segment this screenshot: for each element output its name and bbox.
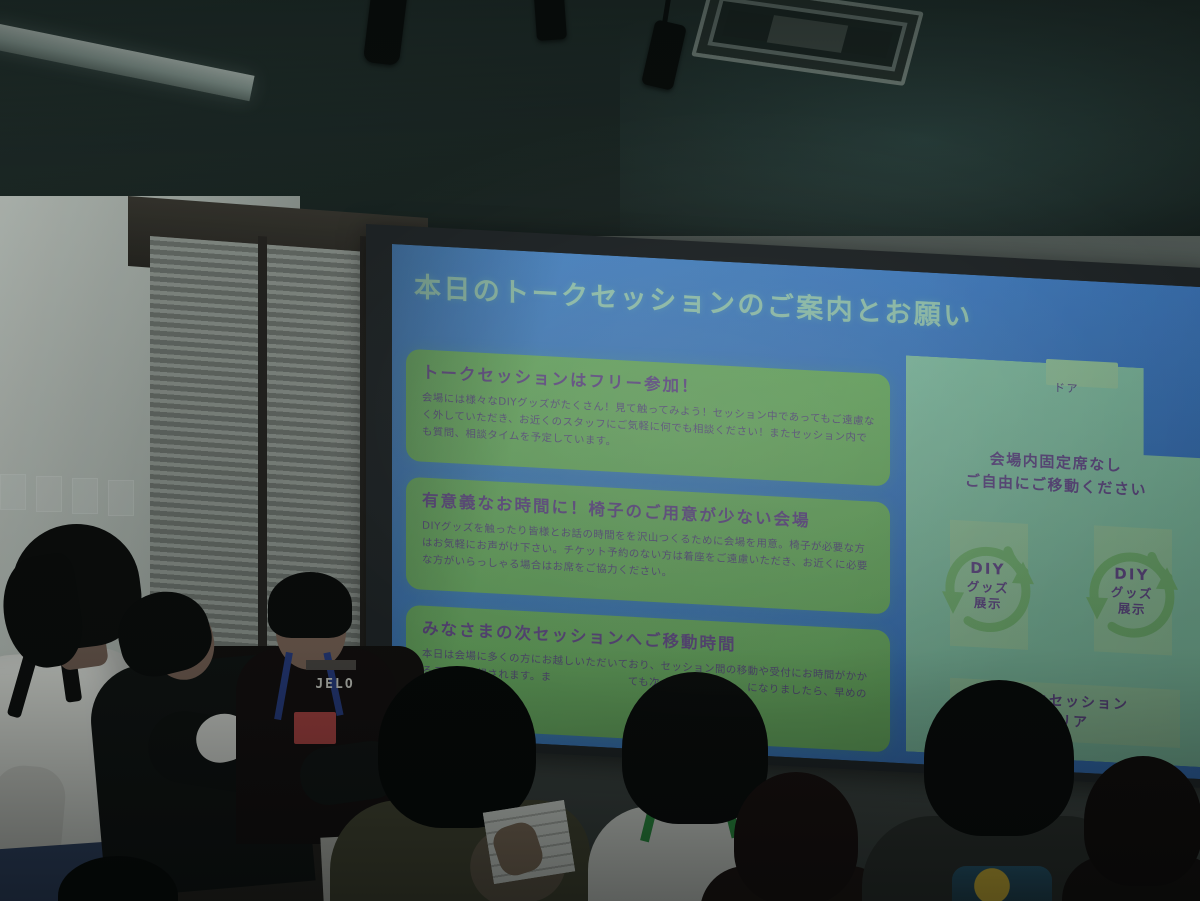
panelist-staff-hair	[268, 572, 352, 638]
booth-label: DIY グッズ 展示	[1076, 532, 1188, 650]
vent-core	[767, 16, 848, 53]
diy-booth: DIY グッズ 展示	[1076, 532, 1188, 650]
booth-label: DIY グッズ 展示	[932, 527, 1044, 645]
name-badge	[294, 712, 336, 744]
content-box: トークセッションはフリー参加！ 会場には様々なDIYグッズがたくさん！見て触って…	[406, 349, 890, 487]
slide-title: 本日のトークセッションのご案内とお願い	[414, 265, 1014, 336]
wall-panel	[0, 474, 26, 510]
audience-member-head	[734, 772, 858, 901]
wall-panel	[108, 480, 134, 516]
wall-panel	[36, 476, 62, 512]
photo-scene: 本日のトークセッションのご案内とお願い トークセッションはフリー参加！ 会場には…	[0, 0, 1200, 901]
audience-member-head	[378, 666, 536, 828]
window-mullion	[258, 236, 267, 707]
graphic-tee-print	[952, 866, 1052, 901]
booth-label-en: DIY	[1114, 565, 1150, 586]
door-label-top: ドア	[1054, 379, 1079, 396]
shirt-logo-text: JELO	[306, 672, 364, 698]
audience-member-head	[924, 680, 1074, 836]
shirt-logo-bar	[306, 660, 356, 670]
conference-room: 本日のトークセッションのご案内とお願い トークセッションはフリー参加！ 会場には…	[0, 0, 1200, 901]
track-spotlight-icon	[533, 0, 567, 41]
venue-note-line-1: 会場内固定席なし	[990, 450, 1123, 475]
booth-label-en: DIY	[970, 559, 1006, 580]
booth-label-line3: 展示	[1118, 600, 1146, 618]
audience-member-head	[1084, 756, 1200, 886]
diy-booth: DIY グッズ 展示	[932, 527, 1044, 645]
wall-panel	[72, 478, 98, 514]
content-box: 有意義なお時間に！椅子のご用意が少ない会場 DIYグッズを触ったり皆様とお話の時…	[406, 477, 890, 615]
booth-label-line3: 展示	[974, 595, 1002, 613]
